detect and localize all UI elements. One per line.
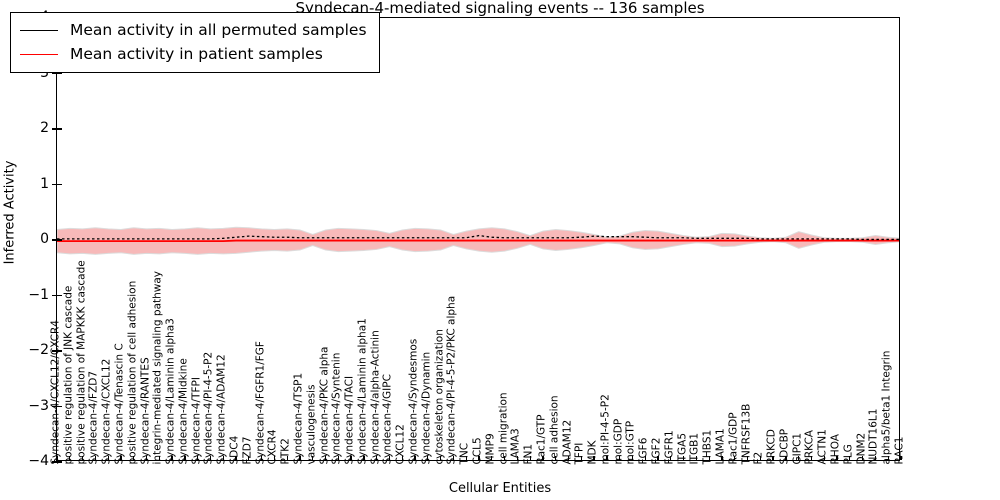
x-tick-label: Syndecan-4/PI-4-5-P2/PKC alpha [447,295,458,464]
x-tick-label: mol:GTP [626,420,637,464]
chart-legend: Mean activity in all permuted samples Me… [10,12,380,73]
legend-label-patient: Mean activity in patient samples [70,45,323,63]
x-tick-label: mol:GDP [613,418,624,464]
x-tick-label: GIPC1 [792,432,803,464]
y-tick-label: 0 [5,231,49,247]
x-axis-label: Cellular Entities [0,481,1000,496]
legend-line-black-icon [20,30,58,31]
x-tick-label: Syndecan-4/Tenascin C [114,343,125,464]
y-tick-label: 2 [5,120,49,136]
x-tick-label: Syndecan-4/Syndesmos [409,338,420,464]
x-tick-label: Rac1/GDP [728,412,739,464]
x-tick-label: cell migration [498,392,509,464]
x-tick-label: cytoskeleton organization [434,329,445,464]
x-tick-label: FGFR1 [664,430,675,464]
x-tick-label: ACTN1 [818,429,829,464]
x-tick-label: CXCL12 [396,424,407,464]
x-tick-label: CXCR4 [268,429,279,464]
x-tick-label: Syndecan-4/RANTES [140,357,151,464]
y-tick-label: −4 [5,453,49,469]
legend-line-red-icon [20,54,58,55]
y-tick-label: −2 [5,342,49,358]
x-tick-label: ITGB1 [690,432,701,464]
x-tick-label: FZD7 [242,436,253,464]
x-tick-label: RHOA [831,434,842,464]
patient-mean-line [57,241,899,242]
x-tick-label: ADAM12 [562,419,573,464]
x-tick-label: Syndecan-4/Midkine [178,358,189,464]
x-tick-label: Syndecan-4/ADAM12 [217,354,228,464]
x-tick-label: Syndecan-4/CXCL12/CXCR4 [51,320,62,464]
x-tick-label: Syndecan-4/TACI [345,375,356,464]
x-tick-label: PTK2 [281,438,292,464]
x-tick-label: ITGA5 [677,432,688,464]
x-tick-label: PRKCA [805,430,816,464]
x-tick-label: F2 [754,451,765,464]
x-tick-label: integrin-mediated signaling pathway [153,270,164,464]
x-tick-label: Syndecan-4/Laminin alpha1 [357,318,368,464]
x-tick-label: LAMA3 [511,428,522,464]
x-tick-label: alpha5/beta1 Integrin [882,350,893,464]
legend-item-patient: Mean activity in patient samples [20,42,367,66]
x-tick-label: Syndecan-4/PI-4-5-P2 [204,351,215,464]
x-tick-label: positive regulation of JNK cascade [63,285,74,464]
x-tick-label: PRKCD [767,429,778,464]
x-tick-label: Syndecan-4/FGFR1/FGF [255,341,266,464]
x-tick-label: NUDT16L1 [869,408,880,464]
x-tick-label: Rac1/GTP [536,414,547,464]
x-tick-label: DNM2 [856,432,867,464]
x-tick-label: TNFRSF13B [741,403,752,464]
x-tick-label: CCL5 [473,437,484,464]
y-tick-mark-inner [57,184,62,185]
x-tick-label: Syndecan-4/FZD7 [89,370,100,464]
chart-root: Syndecan-4-mediated signaling events -- … [0,0,1000,500]
x-tick-label: Syndecan-4/Dynamin [421,351,432,464]
x-tick-label: cell adhesion [549,395,560,464]
plot-area: 43210−1−2−3−4 Syndecan-4/CXCL12/CXCR4pos… [56,17,900,461]
y-tick-label: −1 [5,287,49,303]
x-tick-label: Syndecan-4/GIPC [383,374,394,464]
legend-label-permuted: Mean activity in all permuted samples [70,21,367,39]
y-tick-mark-inner [57,295,62,296]
x-tick-label: MMP9 [485,433,496,464]
x-tick-label: vasculogenesis [306,384,317,464]
x-tick-label: SDCBP [779,428,790,464]
y-tick-mark-inner [57,239,62,240]
x-tick-label: Syndecan-4/Laminin alpha3 [166,318,177,464]
y-tick-label: 1 [5,176,49,192]
x-tick-label: TNC [460,442,471,464]
x-tick-label: PLG [843,444,854,464]
x-tick-label: Syndecan-4/Syntenin [332,352,343,464]
y-tick-mark-inner [57,128,62,129]
legend-item-permuted: Mean activity in all permuted samples [20,18,367,42]
x-tick-label: positive regulation of MAPKKK cascade [76,260,87,464]
x-tick-label: Syndecan-4/PKC alpha [319,346,330,464]
y-tick-mark-inner [57,73,62,74]
y-tick-label: −3 [5,398,49,414]
x-tick-label: FN1 [524,443,535,464]
x-tick-label: FGF2 [652,437,663,464]
x-tick-label: FGF6 [639,437,650,464]
x-tick-label: LAMA1 [715,428,726,464]
x-tick-label: THBS1 [703,429,714,464]
x-tick-label: Syndecan-4/CXCL12 [102,358,113,464]
x-tick-label: Syndecan-4/alpha-Actinin [370,330,381,464]
x-tick-label: SDC4 [230,435,241,464]
x-tick-label: mol:PI-4-5-P2 [600,394,611,464]
x-tick-label: Syndecan-4/TSP1 [293,372,304,464]
x-tick-label: RAC1 [895,436,906,464]
x-tick-label: positive regulation of cell adhesion [127,280,138,464]
x-tick-label: MDK [588,440,599,464]
x-tick-label: Syndecan-4/TFPI [191,377,202,464]
x-tick-label: TFPI [575,442,586,464]
